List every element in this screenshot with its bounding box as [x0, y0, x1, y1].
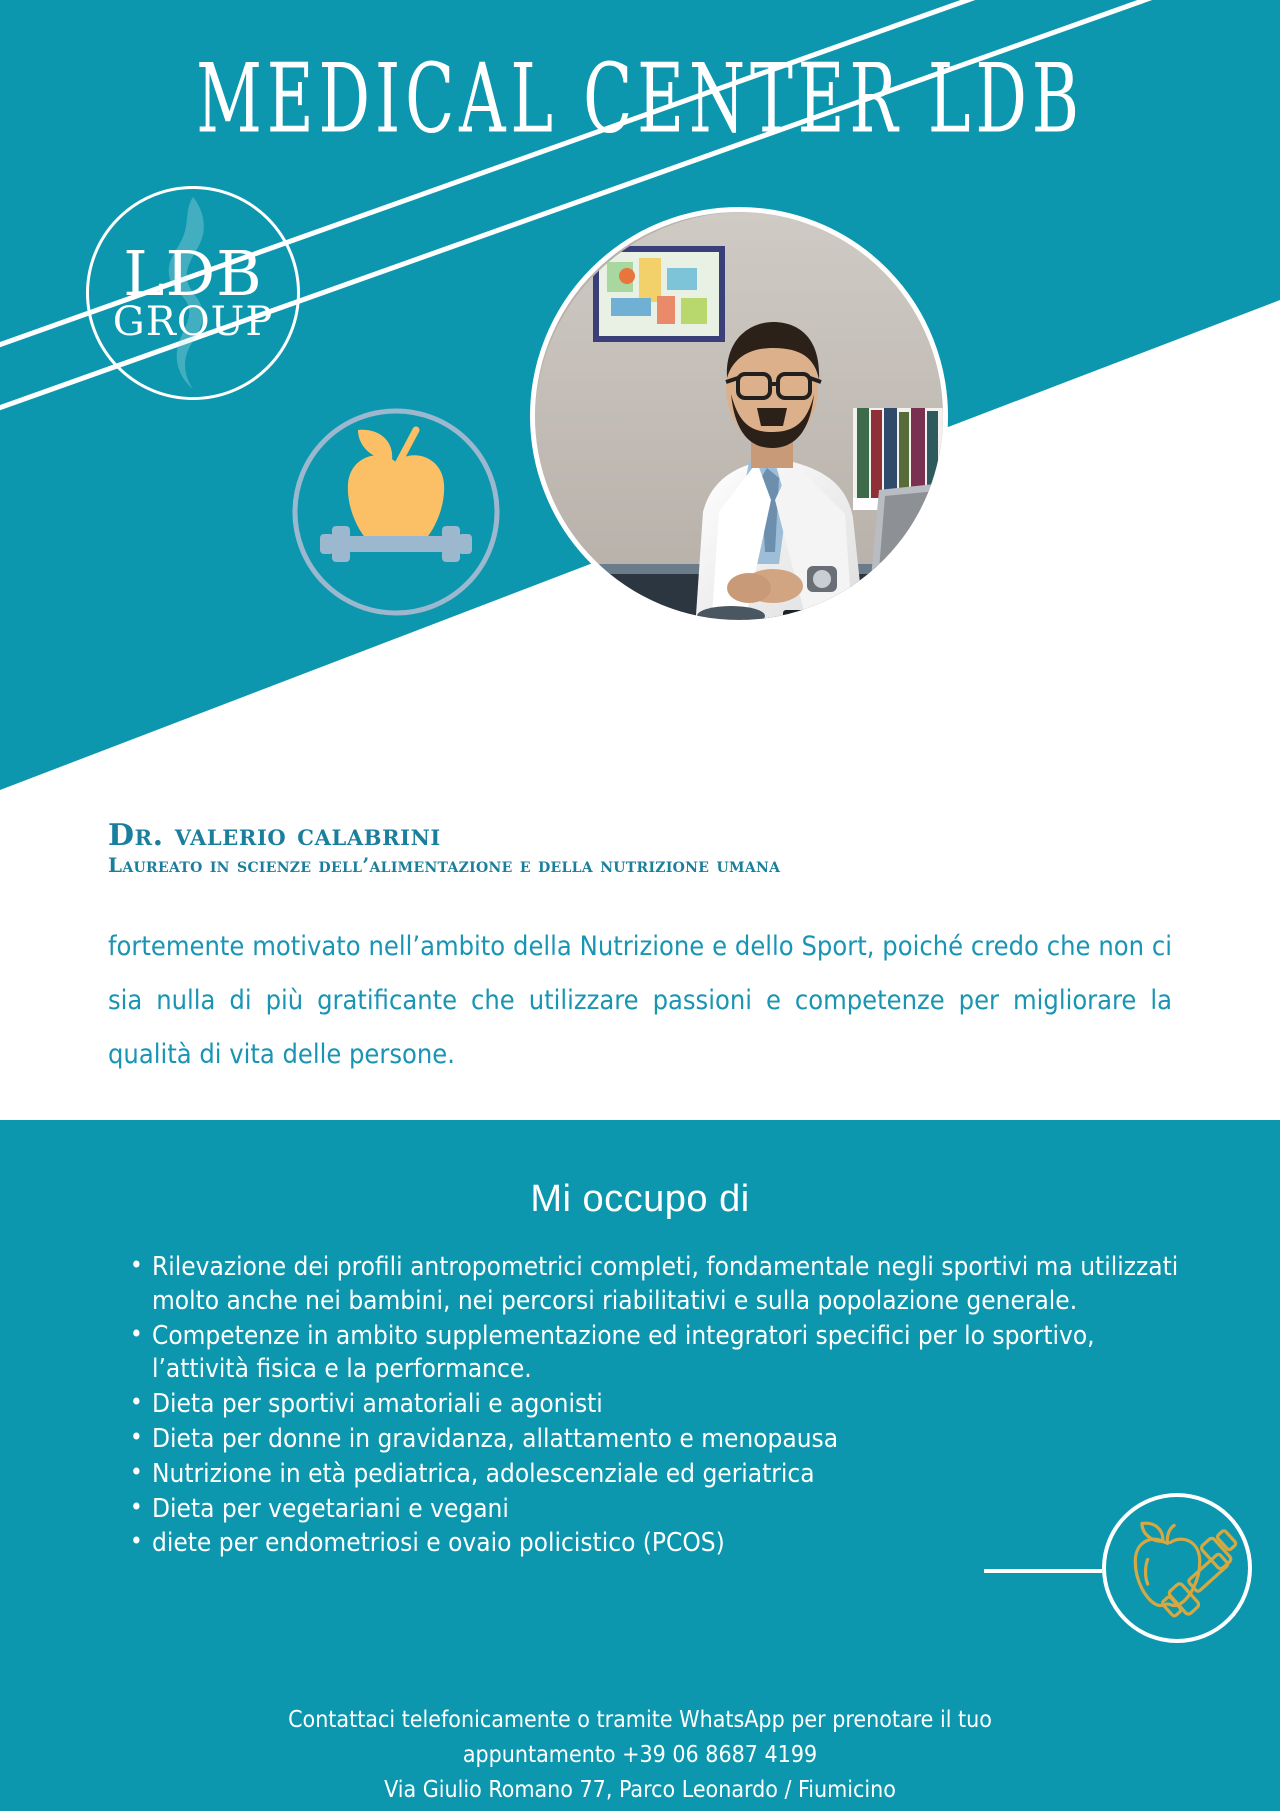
ldb-group-logo: LDB GROUP: [86, 186, 300, 400]
apple-dumbbell-outline-icon: [1102, 1493, 1252, 1643]
list-item: diete per endometriosi e ovaio policisti…: [130, 1527, 1188, 1561]
badge-divider-line: [984, 1569, 1102, 1573]
apple-dumbbell-icon: [292, 408, 500, 616]
doctor-portrait-illustration: [535, 212, 943, 620]
page-title: MEDICAL CENTER LDB: [26, 52, 1255, 147]
list-item: Dieta per sportivi amatoriali e agonisti: [130, 1388, 1188, 1422]
list-item: Competenze in ambito supplementazione ed…: [130, 1320, 1188, 1388]
doctor-portrait-photo: [530, 207, 948, 625]
footer-band: Contattaci telefonicamente o tramite Wha…: [0, 1691, 1280, 1811]
bio-paragraph: fortemente motivato nell’ambito della Nu…: [108, 920, 1172, 1082]
services-title: Mi occupo di: [0, 1120, 1280, 1221]
list-item: Rilevazione dei profili antropometrici c…: [130, 1251, 1188, 1319]
ldb-logo-line1: LDB: [123, 244, 262, 304]
footer-contact-line1: Contattaci telefonicamente o tramite Wha…: [288, 1707, 992, 1768]
apple-dumbbell-outline-glyph: [1106, 1497, 1248, 1639]
services-list: Rilevazione dei profili antropometrici c…: [92, 1251, 1188, 1561]
ldb-logo-text: LDB GROUP: [89, 189, 297, 397]
doctor-portrait-image: [535, 212, 943, 620]
doctor-degree: Laureato in Scienze dell’Alimentazione e…: [108, 854, 1280, 876]
footer-contact: Contattaci telefonicamente o tramite Wha…: [0, 1691, 1280, 1808]
list-item: Dieta per vegetariani e vegani: [130, 1493, 1188, 1527]
list-item: Dieta per donne in gravidanza, allattame…: [130, 1423, 1188, 1457]
flyer-page: MEDICAL CENTER LDB LDB GROUP: [0, 0, 1280, 1811]
ldb-logo-line2: GROUP: [113, 302, 274, 342]
services-section: Mi occupo di Rilevazione dei profili ant…: [0, 1120, 1280, 1691]
doctor-name: Dr. Valerio Calabrini: [108, 820, 1280, 852]
list-item: Nutrizione in età pediatrica, adolescenz…: [130, 1458, 1188, 1492]
footer-address-line: Via Giulio Romano 77, Parco Leonardo / F…: [230, 1773, 1050, 1808]
bio-section: Dr. Valerio Calabrini Laureato in Scienz…: [0, 820, 1280, 1082]
